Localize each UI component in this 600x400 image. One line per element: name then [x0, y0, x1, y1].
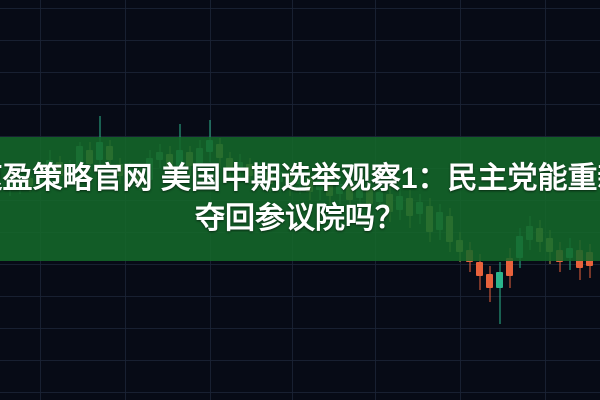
- headline-line-1: 速盈策略官网 美国中期选举观察1：民主党能重新: [0, 159, 600, 199]
- candlestick-body: [496, 272, 503, 288]
- headline-text: 速盈策略官网 美国中期选举观察1：民主党能重新 夺回参议院吗？: [0, 137, 600, 261]
- candlestick-body: [486, 274, 493, 288]
- cover-image: 速盈策略官网 美国中期选举观察1：民主党能重新 夺回参议院吗？: [0, 0, 600, 400]
- headline-line-2: 夺回参议院吗？: [195, 199, 405, 239]
- candlestick-body: [476, 262, 483, 276]
